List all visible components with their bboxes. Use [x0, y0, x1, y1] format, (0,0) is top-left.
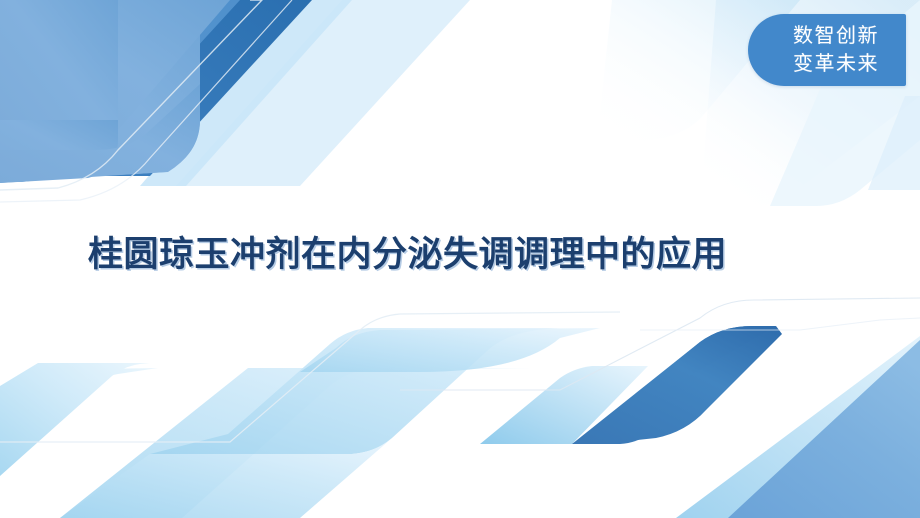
bottom-left-hairline — [0, 312, 620, 442]
top-left-pale-diagonal-band-2 — [140, 0, 352, 186]
bottom-center-pale-wing — [150, 328, 560, 454]
bottom-right-small-pale-wing — [480, 366, 648, 444]
top-left-blue-panel — [0, 0, 214, 182]
top-left-pale-diagonal-band — [176, 0, 470, 186]
title-slide: 数智创新 变革未来 桂圆琼玉冲剂在内分泌失调调理中的应用 — [0, 0, 920, 518]
bottom-right-hairline — [400, 298, 920, 390]
badge-line-2: 变革未来 — [793, 50, 879, 78]
bottom-center-pale-wing-tail — [60, 438, 392, 518]
bottom-right-steel-wing-body — [574, 326, 772, 444]
bottom-left-pale-stripe-inner — [60, 368, 530, 518]
corner-badge: 数智创新 变革未来 — [748, 14, 906, 86]
page-title: 桂圆琼玉冲剂在内分泌失调调理中的应用 — [88, 228, 794, 282]
top-left-hairline-arc-2 — [0, 0, 292, 202]
bottom-right-steel-wing-solid — [572, 326, 776, 444]
bottom-right-pale-triangle-edge — [676, 336, 920, 518]
top-left-mid-diagonal-band — [44, 0, 240, 168]
top-left-panel-skirt — [0, 84, 200, 183]
bottom-right-hairline-2 — [640, 318, 920, 330]
bottom-right-steel-wing — [574, 336, 772, 444]
bottom-left-pale-stripe-outer — [0, 368, 158, 468]
bottom-center-pale-wing-head — [300, 328, 600, 372]
top-left-panel-solid — [0, 0, 226, 152]
top-left-blue-panel-body — [0, 0, 200, 182]
top-left-panel-fill — [0, 0, 230, 158]
top-left-panel-round-corner — [0, 120, 118, 183]
badge-line-1: 数智创新 — [793, 22, 879, 50]
bottom-right-steel-wing-fill — [572, 326, 782, 444]
title-block: 桂圆琼玉冲剂在内分泌失调调理中的应用 — [88, 228, 794, 282]
top-right-faint-band-4 — [868, 96, 920, 190]
top-left-dark-diagonal-band — [74, 0, 312, 176]
bottom-right-light-triangle — [728, 340, 920, 518]
top-left-hairline-arc — [0, 0, 262, 190]
top-left-panel-block — [0, 0, 118, 152]
bottom-left-pale-stripe-outer-body — [0, 363, 150, 476]
